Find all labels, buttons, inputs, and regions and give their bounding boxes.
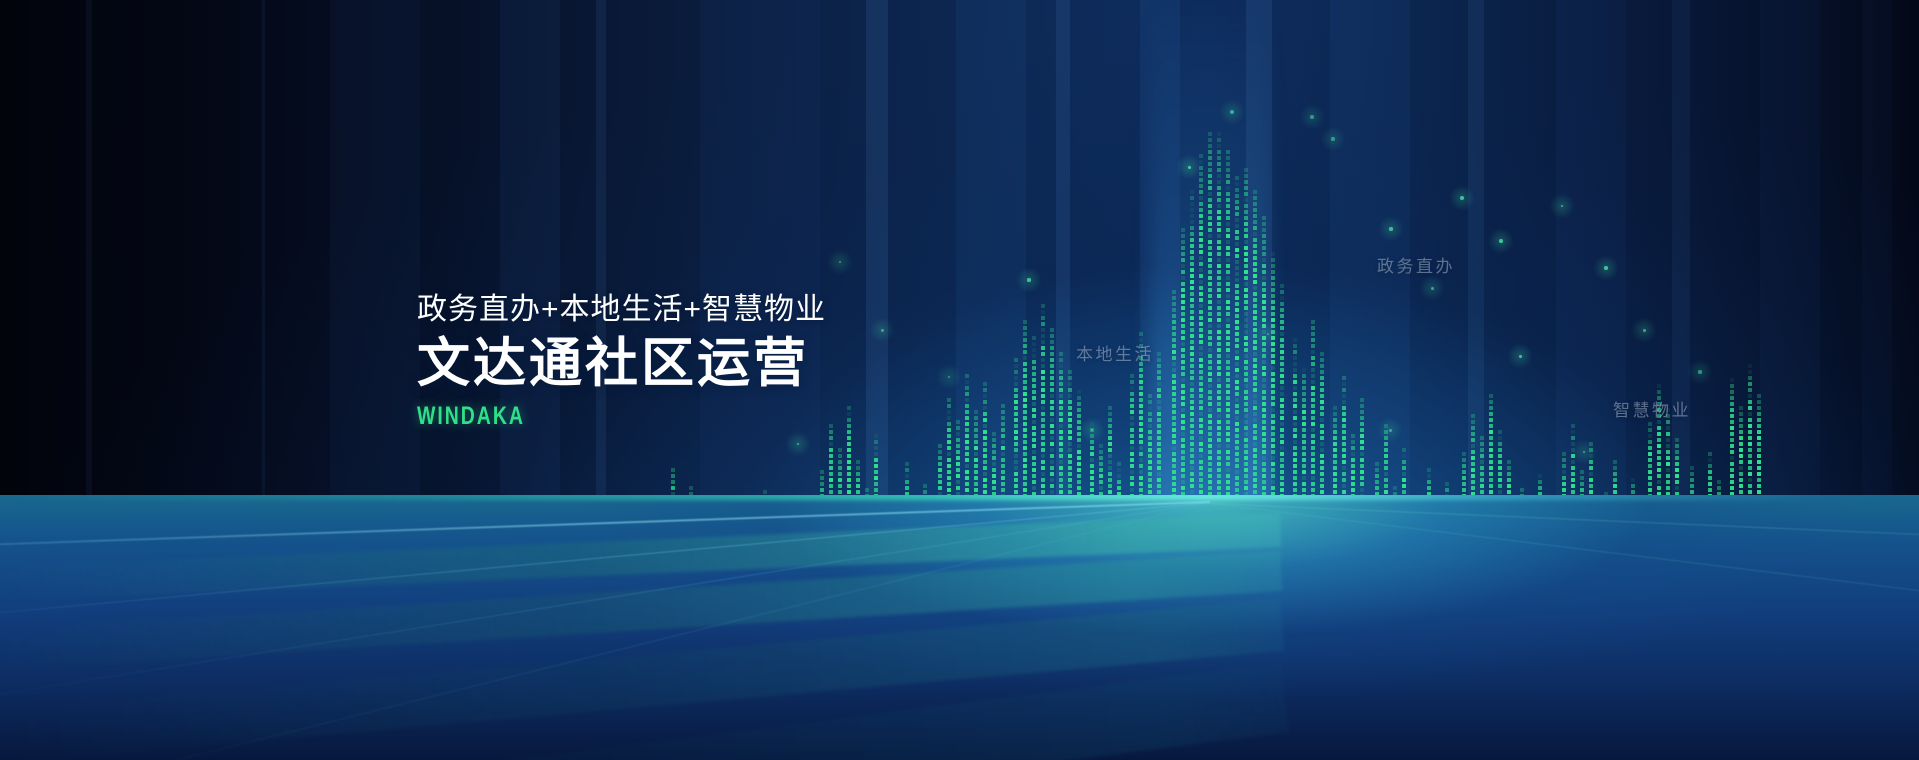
perspective-ground-plane <box>0 495 1919 760</box>
hero-subtitle: 政务直办+本地生活+智慧物业 <box>417 292 826 327</box>
hero-headline: 文达通社区运营 <box>417 334 826 393</box>
horizon-glow-line <box>0 495 1919 500</box>
city-label-local-life: 本地生活 <box>1076 340 1154 365</box>
city-label-government-service: 政务直办 <box>1377 252 1455 277</box>
hero-text-block: 政务直办+本地生活+智慧物业 文达通社区运营 WINDAKA <box>417 292 826 431</box>
brand-wordmark: WINDAKA <box>417 402 736 431</box>
hero-banner: 本地生活 政务直办 智慧物业 政务直办+本地生活+智慧物业 文达通社区运营 WI… <box>0 0 1919 760</box>
city-label-smart-property: 智慧物业 <box>1613 396 1691 421</box>
